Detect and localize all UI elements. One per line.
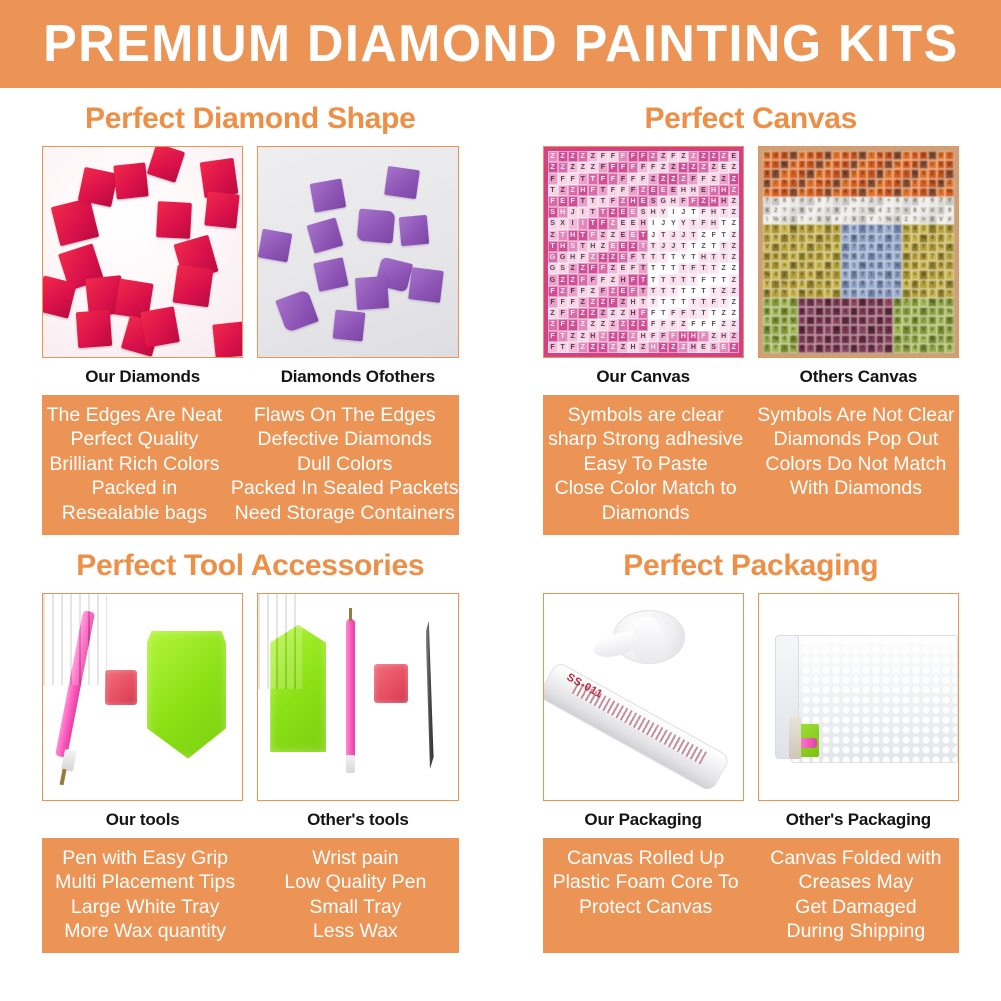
canvas-cell: / — [789, 188, 798, 197]
canvas-cell: \ — [876, 335, 885, 344]
canvas-cell: V — [771, 188, 780, 197]
canvas-cell: 9 — [928, 197, 937, 206]
canvas-cell: % — [876, 151, 885, 160]
canvas-cell: V — [945, 160, 954, 169]
canvas-cell: F — [558, 319, 568, 330]
canvas-cell: V — [806, 325, 815, 334]
canvas-cell: # — [893, 188, 902, 197]
canvas-cell: # — [867, 234, 876, 243]
canvas-cell: 7 — [763, 224, 772, 233]
bullet-line: Resealable bags — [42, 501, 227, 525]
canvas-cell: ? — [937, 169, 946, 178]
canvas-cell: E — [618, 252, 628, 263]
canvas-cell: 4 — [893, 215, 902, 224]
canvas-cell: T — [719, 230, 729, 241]
canvas-cell: H — [558, 207, 568, 218]
canvas-cell: 4 — [911, 344, 920, 353]
canvas-cell: \ — [937, 188, 946, 197]
canvas-cell: Y — [928, 307, 937, 316]
canvas-cell: F — [668, 308, 678, 319]
canvas-cell: # — [806, 261, 815, 270]
canvas-cell: % — [867, 206, 876, 215]
canvas-cell: T — [668, 252, 678, 263]
bullet-line: Plastic Foam Core To — [543, 870, 749, 894]
canvas-cell: % — [850, 197, 859, 206]
canvas-cell: T — [648, 263, 658, 274]
canvas-cell: F — [648, 308, 658, 319]
canvas-cell: 8 — [919, 270, 928, 279]
bullet-line: Dull Colors — [231, 452, 459, 476]
canvas-cell: # — [798, 197, 807, 206]
canvas-cell: F — [628, 286, 638, 297]
canvas-cell: 7 — [867, 160, 876, 169]
section-title: Perfect Diamond Shape — [0, 88, 501, 146]
canvas-cell: Z — [729, 286, 739, 297]
canvas-cell: Z — [648, 151, 658, 162]
canvas-cell: 9 — [789, 243, 798, 252]
canvas-cell: Z — [729, 185, 739, 196]
canvas-cell: ? — [780, 325, 789, 334]
canvas-cell: ? — [780, 206, 789, 215]
canvas-cell: F — [608, 173, 618, 184]
canvas-cell: Z — [719, 263, 729, 274]
canvas-cell: Y — [919, 243, 928, 252]
canvas-cell: / — [937, 325, 946, 334]
canvas-cell: 4 — [893, 335, 902, 344]
canvas-cell: J — [678, 207, 688, 218]
canvas-cell: T — [638, 252, 648, 263]
canvas-cell: ? — [815, 224, 824, 233]
canvas-cell: F — [628, 151, 638, 162]
canvas-cell: + — [798, 151, 807, 160]
canvas-cell: Z — [698, 230, 708, 241]
canvas-cell: Z — [719, 319, 729, 330]
canvas-cell: 2 — [937, 234, 946, 243]
canvas-cell: T — [658, 297, 668, 308]
canvas-cell: % — [945, 188, 954, 197]
canvas-cell: 4 — [858, 316, 867, 325]
canvas-cell: Z — [729, 218, 739, 229]
canvas-cell: Y — [832, 197, 841, 206]
canvas-cell: S — [568, 241, 578, 252]
bullet-line: Packed in — [42, 476, 227, 500]
canvas-cell: \ — [867, 270, 876, 279]
bullet-line: During Shipping — [753, 919, 959, 943]
canvas-cell: Z — [598, 342, 608, 353]
canvas-cell: H — [688, 185, 698, 196]
canvas-cell: / — [937, 206, 946, 215]
caption-others: Other's tools — [257, 810, 458, 830]
canvas-cell: H — [618, 274, 628, 285]
canvas-cell: ? — [806, 280, 815, 289]
canvas-cell: F — [598, 162, 608, 173]
canvas-cell: H — [678, 331, 688, 342]
photo-others-tools — [257, 593, 458, 801]
canvas-cell: S — [709, 342, 719, 353]
canvas-cell: 4 — [841, 188, 850, 197]
canvas-cell: Z — [719, 173, 729, 184]
canvas-cell: 8 — [798, 206, 807, 215]
bullet-line: Canvas Rolled Up — [543, 846, 749, 870]
canvas-cell: Z — [578, 319, 588, 330]
canvas-cell: + — [763, 252, 772, 261]
canvas-cell: + — [945, 289, 954, 298]
canvas-cell: + — [780, 261, 789, 270]
canvas-cell: Z — [698, 162, 708, 173]
canvas-cell: V — [876, 243, 885, 252]
canvas-cell: F — [578, 286, 588, 297]
canvas-cell: Z — [548, 230, 558, 241]
canvas-cell: F — [628, 252, 638, 263]
canvas-cell: E — [558, 196, 568, 207]
canvas-cell: Z — [588, 151, 598, 162]
bullet-line: sharp Strong adhesive — [543, 427, 749, 451]
canvas-cell: V — [832, 280, 841, 289]
canvas-cell: F — [548, 297, 558, 308]
bullet-line: Perfect Quality — [42, 427, 227, 451]
canvas-cell: 4 — [902, 160, 911, 169]
canvas-cell: V — [806, 206, 815, 215]
canvas-cell: 2 — [771, 325, 780, 334]
canvas-cell: / — [841, 215, 850, 224]
canvas-cell: ? — [771, 261, 780, 270]
canvas-cell: H — [678, 185, 688, 196]
caption-our-canvas: Our CanvasOthers Canvas — [501, 358, 1001, 395]
canvas-cell: \ — [780, 344, 789, 353]
canvas-cell: 8 — [832, 344, 841, 353]
canvas-cell: Z — [568, 162, 578, 173]
canvas-cell: 9 — [763, 169, 772, 178]
canvas-cell: / — [780, 243, 789, 252]
canvas-cell: F — [588, 263, 598, 274]
canvas-cell: 2 — [928, 289, 937, 298]
canvas-cell: Z — [578, 342, 588, 353]
canvas-cell: F — [548, 331, 558, 342]
canvas-cell: Z — [719, 286, 729, 297]
canvas-cell: % — [911, 289, 920, 298]
canvas-cell: F — [709, 230, 719, 241]
canvas-cell: ? — [911, 215, 920, 224]
canvas-cell: E — [618, 207, 628, 218]
canvas-cell: # — [876, 298, 885, 307]
canvas-cell: 9 — [841, 270, 850, 279]
canvas-cell: # — [911, 316, 920, 325]
canvas-cell: Z — [588, 162, 598, 173]
canvas-cell: F — [608, 185, 618, 196]
canvas-cell: 8 — [945, 224, 954, 233]
canvas-cell: / — [824, 325, 833, 334]
canvas-cell: + — [806, 335, 815, 344]
canvas-cell: 7 — [824, 316, 833, 325]
canvas-cell: Z — [729, 196, 739, 207]
canvas-cell: 7 — [937, 197, 946, 206]
canvas-cell: H — [628, 308, 638, 319]
canvas-cell: 7 — [806, 188, 815, 197]
canvas-cell: \ — [806, 179, 815, 188]
canvas-cell: Z — [668, 162, 678, 173]
canvas-cell: / — [798, 252, 807, 261]
photo-others-diamonds — [257, 146, 458, 358]
canvas-cell: Z — [588, 319, 598, 330]
canvas-cell: V — [902, 197, 911, 206]
canvas-cell: T — [658, 263, 668, 274]
canvas-cell: F — [548, 196, 558, 207]
canvas-cell: # — [919, 261, 928, 270]
canvas-cell: V — [911, 261, 920, 270]
canvas-cell: + — [815, 280, 824, 289]
canvas-cell: F — [638, 162, 648, 173]
canvas-cell: 7 — [876, 224, 885, 233]
canvas-cell: + — [850, 298, 859, 307]
canvas-cell: 9 — [858, 160, 867, 169]
canvas-cell: Y — [771, 224, 780, 233]
canvas-cell: Z — [598, 241, 608, 252]
canvas-cell: 9 — [832, 206, 841, 215]
canvas-cell: 8 — [850, 234, 859, 243]
canvas-cell: 4 — [884, 151, 893, 160]
canvas-cell: Y — [911, 179, 920, 188]
canvas-cell: / — [850, 160, 859, 169]
canvas-cell: S — [548, 218, 558, 229]
canvas-cell: Z — [548, 162, 558, 173]
canvas-cell: 4 — [911, 224, 920, 233]
caption-our-packaging: Our PackagingOther's Packaging — [501, 801, 1001, 838]
canvas-cell: Z — [678, 151, 688, 162]
canvas-cell: \ — [919, 298, 928, 307]
canvas-cell: 4 — [824, 179, 833, 188]
canvas-cell: 9 — [806, 252, 815, 261]
canvas-cell: Y — [815, 188, 824, 197]
canvas-cell: Z — [608, 263, 618, 274]
canvas-cell: \ — [867, 151, 876, 160]
canvas-cell: Z — [719, 308, 729, 319]
canvas-cell: % — [763, 270, 772, 279]
canvas-cell: 8 — [937, 160, 946, 169]
canvas-cell: F — [628, 185, 638, 196]
canvas-cell: % — [945, 307, 954, 316]
canvas-cell: T — [588, 207, 598, 218]
canvas-cell: % — [763, 151, 772, 160]
canvas-cell: 8 — [937, 280, 946, 289]
canvas-cell: F — [588, 230, 598, 241]
canvas-cell: G — [548, 274, 558, 285]
canvas-cell: T — [719, 297, 729, 308]
canvas-cell: T — [668, 286, 678, 297]
canvas-cell: 4 — [858, 197, 867, 206]
bullet-line: Packed In Sealed Packets — [231, 476, 459, 500]
canvas-cell: ? — [884, 261, 893, 270]
photo-pair: ZZZZZFFFFFZZFZZZZZEZZZZZFFFFFFZZZZZZEZFF… — [501, 146, 1001, 358]
canvas-cell: # — [815, 325, 824, 334]
canvas-cell: 2 — [945, 179, 954, 188]
canvas-cell: 9 — [763, 289, 772, 298]
canvas-cell: V — [937, 335, 946, 344]
canvas-cell: V — [841, 224, 850, 233]
canvas-cell: V — [919, 325, 928, 334]
canvas-cell: F — [558, 173, 568, 184]
canvas-cell: / — [850, 280, 859, 289]
canvas-cell: + — [928, 280, 937, 289]
canvas-cell: T — [588, 218, 598, 229]
section-canvas: Perfect Canvas ZZZZZFFFFFZZFZZZZZEZZZZZF… — [501, 88, 1001, 535]
canvas-cell: F — [638, 173, 648, 184]
canvas-cell: V — [815, 270, 824, 279]
canvas-cell: # — [832, 215, 841, 224]
canvas-cell: ? — [841, 298, 850, 307]
canvas-cell: V — [771, 307, 780, 316]
canvas-cell: T — [598, 196, 608, 207]
canvas-cell: 2 — [789, 335, 798, 344]
canvas-cell: % — [841, 252, 850, 261]
canvas-cell: V — [850, 169, 859, 178]
canvas-cell: / — [928, 261, 937, 270]
canvas-cell: T — [578, 230, 588, 241]
caption-ours: Our tools — [42, 810, 243, 830]
canvas-cell: \ — [884, 280, 893, 289]
canvas-cell: + — [867, 307, 876, 316]
canvas-cell: Z — [709, 331, 719, 342]
canvas-cell: 2 — [867, 316, 876, 325]
canvas-cell: 4 — [919, 169, 928, 178]
canvas-cell: 7 — [919, 188, 928, 197]
canvas-cell: 4 — [780, 215, 789, 224]
bullet-line: More Wax quantity — [42, 919, 248, 943]
canvas-cell: \ — [780, 224, 789, 233]
canvas-cell: 2 — [824, 234, 833, 243]
canvas-cell: # — [884, 243, 893, 252]
canvas-cell: F — [648, 162, 658, 173]
canvas-cell: F — [668, 331, 678, 342]
photo-our-tools — [42, 593, 243, 801]
bullet-line: Small Tray — [252, 895, 458, 919]
canvas-cell: 7 — [902, 179, 911, 188]
canvas-cell: V — [919, 206, 928, 215]
canvas-cell: F — [608, 196, 618, 207]
canvas-cell: 4 — [850, 252, 859, 261]
bullet-line: Multi Placement Tips — [42, 870, 248, 894]
canvas-cell: J — [678, 230, 688, 241]
canvas-cell: / — [893, 243, 902, 252]
canvas-cell: + — [902, 206, 911, 215]
canvas-cell: 8 — [763, 188, 772, 197]
canvas-cell: 7 — [806, 307, 815, 316]
canvas-cell: T — [598, 185, 608, 196]
canvas-cell: T — [648, 286, 658, 297]
canvas-cell: T — [638, 274, 648, 285]
photo-our-diamonds — [42, 146, 243, 358]
canvas-cell: 8 — [876, 307, 885, 316]
canvas-cell: T — [709, 241, 719, 252]
canvas-cell: V — [937, 215, 946, 224]
bullets-others: Wrist pain Low Quality Pen Small Tray Le… — [252, 846, 458, 944]
canvas-cell: F — [568, 173, 578, 184]
canvas-cell: 8 — [824, 160, 833, 169]
canvas-cell: ? — [841, 179, 850, 188]
bullets-diamond-shape: The Edges Are Neat Perfect Quality Brill… — [42, 395, 459, 535]
canvas-cell: V — [928, 270, 937, 279]
canvas-cell: % — [928, 179, 937, 188]
canvas-cell: 9 — [780, 298, 789, 307]
canvas-cell: 2 — [858, 252, 867, 261]
canvas-cell: 7 — [937, 316, 946, 325]
canvas-cell: Z — [608, 218, 618, 229]
canvas-cell: V — [789, 197, 798, 206]
canvas-cell: F — [678, 308, 688, 319]
canvas-cell: Z — [729, 230, 739, 241]
canvas-cell: F — [568, 308, 578, 319]
canvas-cell: 9 — [893, 298, 902, 307]
canvas-cell: + — [832, 289, 841, 298]
canvas-cell: 8 — [893, 316, 902, 325]
canvas-cell: / — [806, 316, 815, 325]
canvas-cell: H — [648, 342, 658, 353]
canvas-cell: F — [628, 263, 638, 274]
bullets-others: Symbols Are Not Clear Diamonds Pop Out C… — [753, 403, 959, 525]
canvas-cell: Y — [824, 252, 833, 261]
canvas-cell: Z — [678, 319, 688, 330]
canvas-cell: F — [608, 162, 618, 173]
canvas-cell: 9 — [911, 307, 920, 316]
canvas-cell: F — [668, 151, 678, 162]
canvas-cell: V — [945, 280, 954, 289]
canvas-cell: \ — [789, 169, 798, 178]
canvas-cell: Z — [658, 173, 668, 184]
canvas-cell: T — [678, 263, 688, 274]
canvas-cell: Z — [568, 151, 578, 162]
canvas-cell: Z — [598, 308, 608, 319]
canvas-cell: F — [558, 308, 568, 319]
canvas-cell: 8 — [824, 280, 833, 289]
canvas-cell: 2 — [780, 151, 789, 160]
canvas-cell: T — [648, 274, 658, 285]
canvas-cell: F — [698, 207, 708, 218]
canvas-cell: 2 — [902, 215, 911, 224]
canvas-cell: 8 — [902, 261, 911, 270]
canvas-cell: T — [678, 297, 688, 308]
canvas-cell: Z — [709, 151, 719, 162]
canvas-cell: Y — [945, 316, 954, 325]
canvas-cell: T — [558, 342, 568, 353]
canvas-cell: Y — [867, 335, 876, 344]
canvas-cell: Z — [548, 319, 558, 330]
canvas-cell: S — [548, 207, 558, 218]
canvas-cell: T — [698, 308, 708, 319]
canvas-cell: 2 — [893, 270, 902, 279]
canvas-cell: Z — [658, 151, 668, 162]
canvas-cell: Z — [729, 342, 739, 353]
canvas-cell: Y — [789, 234, 798, 243]
canvas-cell: % — [919, 234, 928, 243]
canvas-symbol-grid: ZZZZZFFFFFZZFZZZZZEZZZZZFFFFFFZZZZZZEZFF… — [548, 151, 739, 353]
canvas-cell: Y — [945, 197, 954, 206]
canvas-cell: 8 — [771, 252, 780, 261]
canvas-cell: Z — [618, 342, 628, 353]
canvas-cell: Z — [648, 173, 658, 184]
canvas-cell: 9 — [798, 307, 807, 316]
canvas-cell: \ — [798, 234, 807, 243]
canvas-cell: + — [806, 215, 815, 224]
canvas-cell: V — [815, 151, 824, 160]
canvas-cell: % — [893, 280, 902, 289]
caption-ours: Our Diamonds — [42, 367, 243, 387]
canvas-cell: F — [688, 263, 698, 274]
canvas-cell: Y — [902, 234, 911, 243]
canvas-cell: Y — [937, 252, 946, 261]
canvas-cell: Z — [568, 185, 578, 196]
canvas-cell: 4 — [763, 325, 772, 334]
canvas-cell: # — [841, 160, 850, 169]
canvas-cell: Y — [668, 218, 678, 229]
